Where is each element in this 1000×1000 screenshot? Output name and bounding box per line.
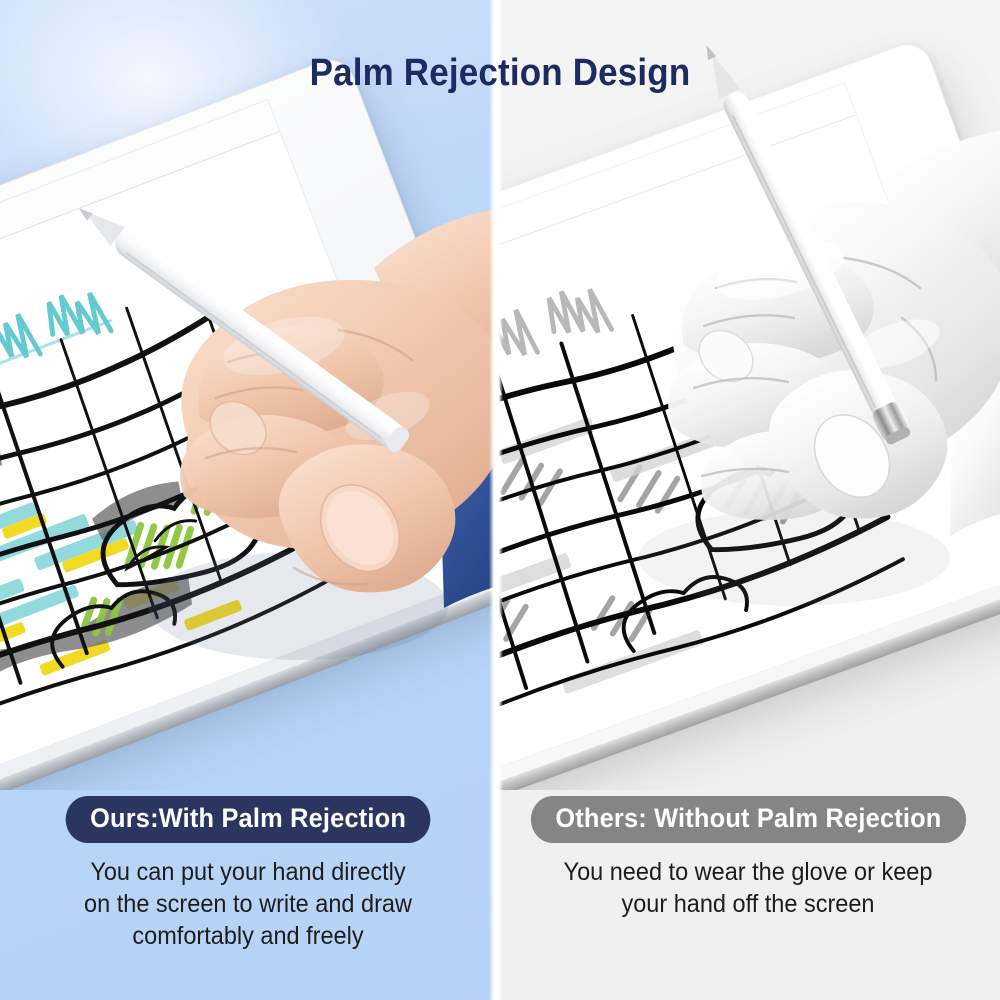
badge-ours: Ours:With Palm Rejection: [66, 796, 431, 843]
badge-others: Others: Without Palm Rejection: [530, 796, 965, 843]
page-title: Palm Rejection Design: [40, 52, 960, 95]
product-comparison-image: ✦: [0, 0, 1000, 1000]
left-caption-block: Ours:With Palm Rejection You can put you…: [0, 796, 496, 952]
right-description: You need to wear the glove or keep your …: [511, 857, 985, 921]
stylus-right: [596, 30, 1000, 510]
right-caption-block: Others: Without Palm Rejection You need …: [496, 796, 1000, 921]
description-line: comfortably and freely: [15, 921, 481, 953]
right-scene-photo: ✦: [496, 0, 1000, 790]
description-line: You can put your hand directly: [15, 857, 481, 889]
description-line: your hand off the screen: [511, 889, 985, 921]
description-line: on the screen to write and draw: [15, 889, 481, 921]
left-description: You can put your hand directly on the sc…: [15, 857, 481, 952]
description-line: You need to wear the glove or keep: [511, 857, 985, 889]
left-scene-photo: ✦: [0, 0, 496, 790]
stylus-left: [40, 200, 480, 480]
